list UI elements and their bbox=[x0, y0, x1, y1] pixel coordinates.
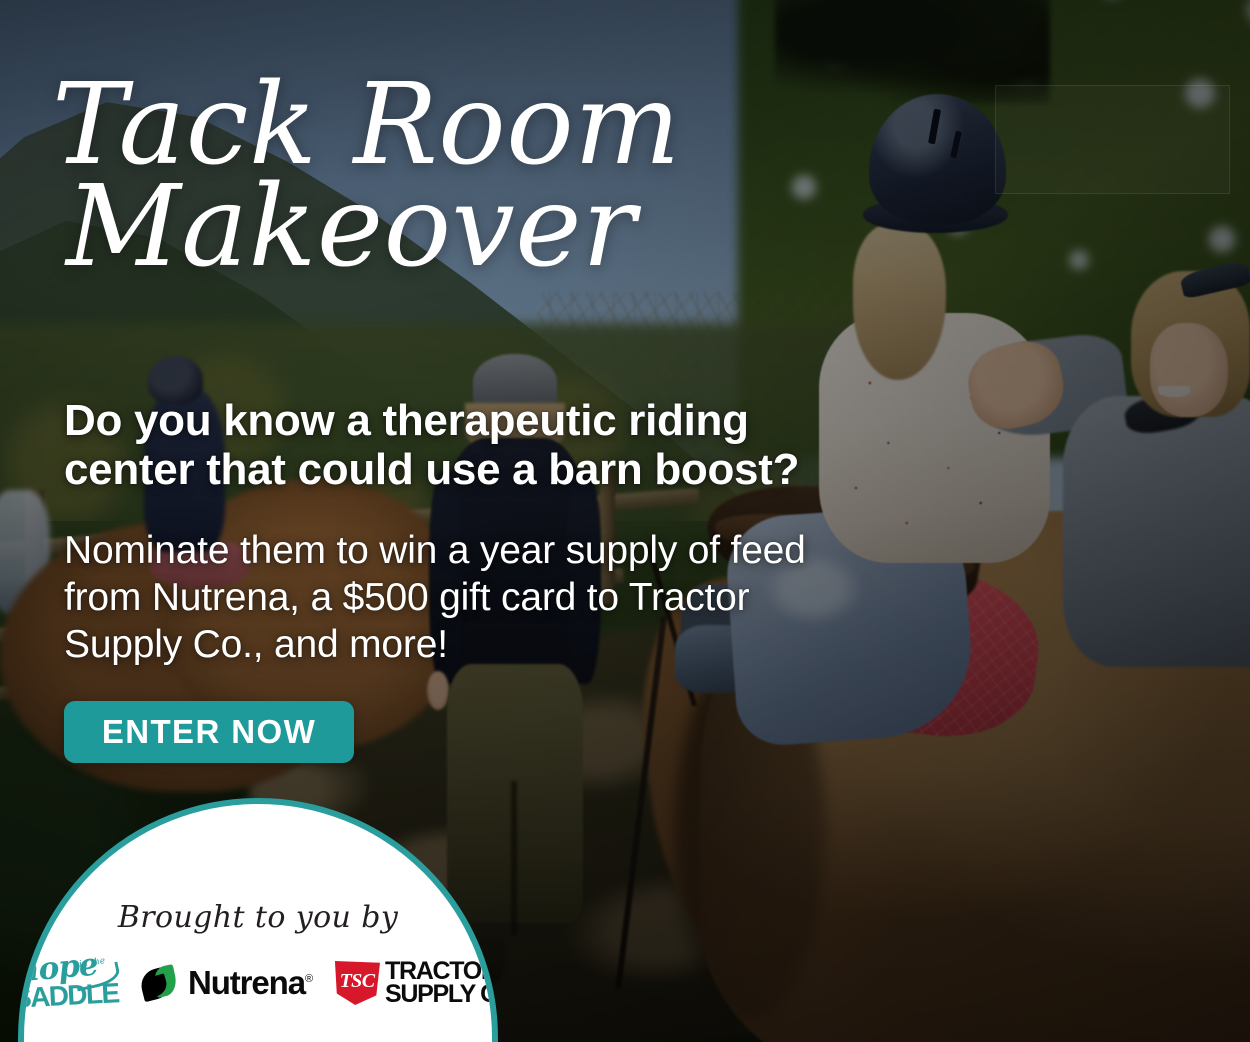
saddle-wordmark: SADDLE bbox=[18, 977, 119, 1014]
offer-description: Nominate them to win a year supply of fe… bbox=[64, 528, 854, 668]
page-title: Tack Room Makeover bbox=[52, 72, 692, 281]
hope-in-the-saddle-logo[interactable]: hope in the SADDLE bbox=[18, 952, 117, 1014]
nutrena-logo[interactable]: Nutrena® bbox=[139, 963, 312, 1003]
nutrena-wordmark: Nutrena® bbox=[188, 964, 312, 1002]
enter-now-button[interactable]: ENTER NOW bbox=[64, 701, 354, 763]
content-overlay: Tack Room Makeover Do you know a therape… bbox=[0, 0, 1250, 1042]
tsc-line-2: SUPPLY Co bbox=[385, 983, 498, 1006]
tsc-shield-icon: TSC bbox=[334, 961, 380, 1005]
tsc-badge-text: TSC bbox=[340, 970, 375, 993]
headline-question: Do you know a therapeutic riding center … bbox=[64, 396, 854, 495]
title-line-2: Makeover bbox=[66, 174, 692, 282]
nutrena-trademark: ® bbox=[305, 973, 312, 985]
tractor-supply-wordmark: TRACTOR® SUPPLY Co bbox=[385, 960, 498, 1006]
promo-banner: Tack Room Makeover Do you know a therape… bbox=[0, 0, 1250, 1042]
nutrena-leaf-icon bbox=[139, 963, 181, 1003]
tractor-supply-logo[interactable]: TSC TRACTOR® SUPPLY Co bbox=[334, 960, 498, 1006]
sponsor-intro-text: Brought to you by bbox=[24, 900, 492, 935]
sponsor-logo-row: hope in the SADDLE Nutrena® TSC bbox=[24, 952, 492, 1014]
sponsor-badge: Brought to you by hope in the SADDLE Nut… bbox=[18, 798, 498, 1042]
